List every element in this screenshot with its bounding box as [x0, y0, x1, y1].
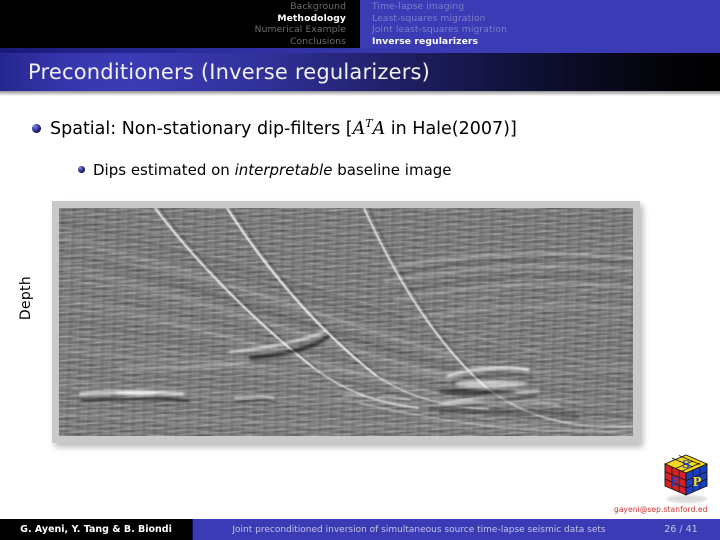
- nav-item-conclusions[interactable]: Conclusions: [290, 36, 346, 48]
- page-title: Preconditioners (Inverse regularizers): [0, 60, 430, 84]
- bullet-item-dips: Dips estimated on interpretable baseline…: [78, 160, 452, 180]
- sep-rubiks-cube-logo: S E P: [660, 452, 712, 504]
- slide-navigation-bar: Background Methodology Numerical Example…: [0, 0, 720, 48]
- footer-divider: [192, 519, 193, 540]
- nav-item-numerical-example[interactable]: Numerical Example: [255, 24, 346, 36]
- nav-section-outline: Background Methodology Numerical Example…: [0, 0, 360, 48]
- footer-authors: G. Ayeni, Y. Tang & B. Biondi: [0, 519, 192, 540]
- bullet-item-dips-label: Dips estimated on interpretable baseline…: [93, 160, 452, 180]
- slide-footer: G. Ayeni, Y. Tang & B. Biondi Joint prec…: [0, 519, 720, 540]
- sep-cube-icon: S E P: [660, 452, 712, 504]
- sub-bullet-sphere-icon: [78, 166, 85, 173]
- seismic-image: [59, 208, 633, 436]
- footer-talk-title: Joint preconditioned inversion of simult…: [192, 519, 646, 540]
- slide-title-bar: Preconditioners (Inverse regularizers): [0, 53, 720, 91]
- bullet-dips-posttext: baseline image: [332, 161, 451, 179]
- nav-item-methodology[interactable]: Methodology: [277, 13, 346, 25]
- nav-item-least-squares-migration[interactable]: Least-squares migration: [372, 13, 486, 25]
- math-superscript-t: T: [365, 117, 372, 130]
- svg-text:P: P: [692, 475, 701, 489]
- math-symbol-a: A: [373, 119, 386, 139]
- svg-text:S: S: [682, 458, 690, 471]
- bullet-sphere-icon: [32, 124, 41, 133]
- bullet-dips-emphasis: interpretable: [235, 161, 333, 179]
- nav-section-subsections: Time-lapse imaging Least-squares migrati…: [360, 0, 720, 48]
- bullet-item-spatial-label: Spatial: Non-stationary dip-filters [ATA…: [50, 118, 517, 140]
- bullet-spatial-midtext: in Hale(2007)]: [385, 119, 517, 139]
- figure-y-axis-label: Depth: [18, 276, 40, 320]
- nav-item-inverse-regularizers[interactable]: Inverse regularizers: [372, 36, 478, 48]
- footer-page-number: 26 / 41: [646, 519, 720, 540]
- bullet-dips-pretext: Dips estimated on: [93, 161, 235, 179]
- seismic-figure: [52, 201, 640, 443]
- bullet-item-spatial: Spatial: Non-stationary dip-filters [ATA…: [32, 118, 517, 140]
- slide-content: Spatial: Non-stationary dip-filters [ATA…: [0, 96, 720, 496]
- seismic-reflectors-overlay: [59, 208, 633, 436]
- math-symbol-a-transpose: A: [353, 119, 366, 139]
- nav-item-time-lapse-imaging[interactable]: Time-lapse imaging: [372, 1, 464, 13]
- nav-item-background[interactable]: Background: [290, 1, 346, 13]
- contact-email: gayeni@sep.stanford.ed: [614, 505, 708, 514]
- bullet-spatial-pretext: Spatial: Non-stationary dip-filters [: [50, 119, 353, 139]
- svg-text:E: E: [670, 475, 679, 489]
- nav-item-joint-least-squares-migration[interactable]: Joint least-squares migration: [372, 24, 507, 36]
